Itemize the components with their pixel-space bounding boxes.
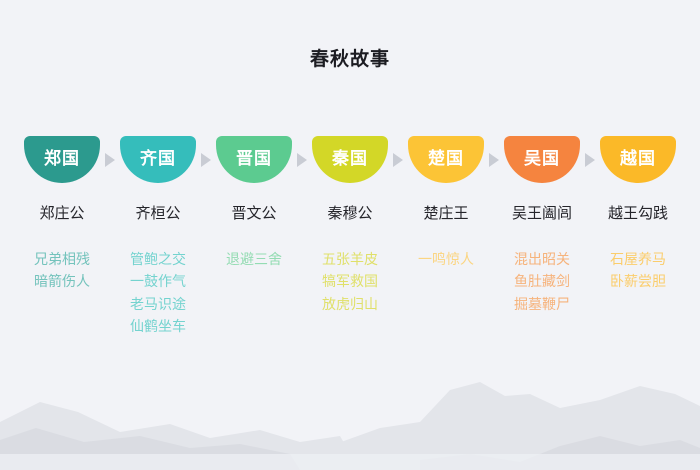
- story-item: 管鲍之交: [130, 249, 186, 269]
- triangle-right-icon: [297, 153, 307, 167]
- mountain-haze: [0, 454, 700, 470]
- flow-arrow-6: [580, 136, 600, 167]
- story-item: 鱼肚藏剑: [514, 271, 570, 291]
- ruler-name: 秦穆公: [327, 205, 372, 223]
- triangle-right-icon: [393, 153, 403, 167]
- story-list: 兄弟相残暗箭伤人: [34, 249, 90, 292]
- flow-arrow-1: [100, 136, 120, 167]
- ruler-name: 吴王阖闾: [512, 205, 572, 223]
- flow-arrow-4: [388, 136, 408, 167]
- story-item: 犒军救国: [322, 271, 378, 291]
- triangle-right-icon: [105, 153, 115, 167]
- state-badge-label: 郑国: [44, 150, 80, 167]
- mountain-layer-near: [0, 428, 700, 470]
- state-badge-label: 越国: [620, 150, 656, 167]
- story-list: 混出昭关鱼肚藏剑掘墓鞭尸: [514, 249, 570, 314]
- state-badge-越国[interactable]: 越国: [600, 136, 676, 183]
- ruler-name: 齐桓公: [135, 205, 180, 223]
- mountain-background-illustration: [0, 350, 700, 470]
- story-list: 一鸣惊人: [418, 249, 474, 269]
- story-item: 退避三舍: [226, 249, 282, 269]
- ruler-name: 楚庄王: [423, 205, 468, 223]
- triangle-right-icon: [585, 153, 595, 167]
- story-item: 混出昭关: [514, 249, 570, 269]
- story-item: 老马识途: [130, 294, 186, 314]
- state-badge-齐国[interactable]: 齐国: [120, 136, 196, 183]
- state-badge-label: 晋国: [236, 150, 272, 167]
- story-item: 一鸣惊人: [418, 249, 474, 269]
- story-list: 管鲍之交一鼓作气老马识途仙鹤坐车: [130, 249, 186, 336]
- story-item: 掘墓鞭尸: [514, 294, 570, 314]
- state-badge-吴国[interactable]: 吴国: [504, 136, 580, 183]
- state-column-齐国[interactable]: 齐国齐桓公管鲍之交一鼓作气老马识途仙鹤坐车: [120, 136, 196, 336]
- state-badge-label: 秦国: [332, 150, 368, 167]
- ruler-name: 越王勾践: [608, 205, 668, 223]
- story-list: 石屋养马卧薪尝胆: [610, 249, 666, 292]
- ruler-name: 晋文公: [231, 205, 276, 223]
- story-item: 五张羊皮: [322, 249, 378, 269]
- state-flow-diagram: 郑国郑庄公兄弟相残暗箭伤人齐国齐桓公管鲍之交一鼓作气老马识途仙鹤坐车晋国晋文公退…: [0, 136, 700, 336]
- story-item: 一鼓作气: [130, 271, 186, 291]
- state-badge-label: 齐国: [140, 150, 176, 167]
- state-badge-楚国[interactable]: 楚国: [408, 136, 484, 183]
- story-item: 兄弟相残: [34, 249, 90, 269]
- state-badge-秦国[interactable]: 秦国: [312, 136, 388, 183]
- story-item: 暗箭伤人: [34, 271, 90, 291]
- story-list: 退避三舍: [226, 249, 282, 269]
- story-item: 放虎归山: [322, 294, 378, 314]
- state-column-晋国[interactable]: 晋国晋文公退避三舍: [216, 136, 292, 269]
- flow-arrow-3: [292, 136, 312, 167]
- state-badge-label: 楚国: [428, 150, 464, 167]
- page-title: 春秋故事: [0, 44, 700, 71]
- mountain-layer-far: [0, 382, 700, 470]
- story-list: 五张羊皮犒军救国放虎归山: [322, 249, 378, 314]
- story-item: 卧薪尝胆: [610, 271, 666, 291]
- flow-arrow-5: [484, 136, 504, 167]
- state-badge-label: 吴国: [524, 150, 560, 167]
- state-column-楚国[interactable]: 楚国楚庄王一鸣惊人: [408, 136, 484, 269]
- state-column-吴国[interactable]: 吴国吴王阖闾混出昭关鱼肚藏剑掘墓鞭尸: [504, 136, 580, 314]
- state-badge-郑国[interactable]: 郑国: [24, 136, 100, 183]
- triangle-right-icon: [201, 153, 211, 167]
- state-column-越国[interactable]: 越国越王勾践石屋养马卧薪尝胆: [600, 136, 676, 292]
- story-item: 仙鹤坐车: [130, 316, 186, 336]
- flow-arrow-2: [196, 136, 216, 167]
- state-column-郑国[interactable]: 郑国郑庄公兄弟相残暗箭伤人: [24, 136, 100, 292]
- state-badge-晋国[interactable]: 晋国: [216, 136, 292, 183]
- triangle-right-icon: [489, 153, 499, 167]
- story-item: 石屋养马: [610, 249, 666, 269]
- ruler-name: 郑庄公: [39, 205, 84, 223]
- state-column-秦国[interactable]: 秦国秦穆公五张羊皮犒军救国放虎归山: [312, 136, 388, 314]
